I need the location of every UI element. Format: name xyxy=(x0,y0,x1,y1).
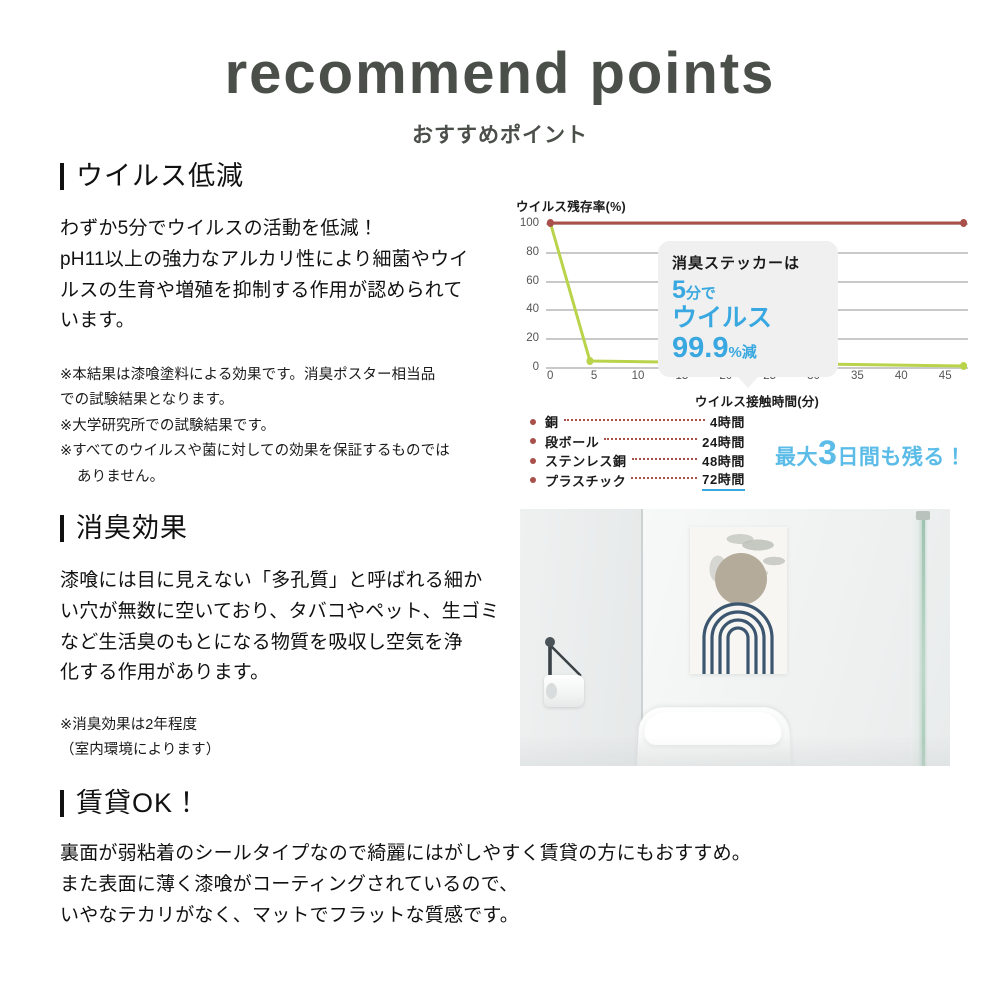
chart-y-axis-label: ウイルス残存率(%) xyxy=(516,196,972,215)
legend-item: プラスチック 72時間 xyxy=(530,471,745,491)
section-notes-deodorizing: ※消臭効果は2年程度 （室内環境によります） xyxy=(60,713,515,764)
chart-x-tick: 0 xyxy=(547,370,553,382)
body-line: わずか5分でウイルスの活動を低減！ xyxy=(60,214,510,245)
body-line: 裏面が弱粘着のシールタイプなので綺麗にはがしやすく賃貸の方にもおすすめ。 xyxy=(60,839,940,870)
legend-item: ステンレス銅 48時間 xyxy=(530,451,745,471)
chart-y-tick: 0 xyxy=(533,361,539,373)
page-subtitle: おすすめポイント xyxy=(0,119,1000,149)
chart-y-tick: 40 xyxy=(526,303,539,315)
section-virus-reduction: ウイルス低減 わずか5分でウイルスの活動を低減！ pH11以上の強力なアルカリ性… xyxy=(60,163,510,490)
legend-leader-dots xyxy=(631,477,697,479)
note-line: ※大学研究所での試験結果です。 xyxy=(60,414,510,439)
chart-x-tick: 35 xyxy=(851,370,864,382)
heading-accent-bar-icon xyxy=(60,163,64,190)
chart-datapoint xyxy=(547,219,554,227)
callout-reduction-number: 99.9 xyxy=(672,332,728,364)
bathroom-photo-scene xyxy=(520,509,950,766)
section-rental-ok: 賃貸OK！ 裏面が弱粘着のシールタイプなので綺麗にはがしやすく賃貸の方にもおすす… xyxy=(60,790,940,931)
section-title: 賃貸OK！ xyxy=(76,790,201,817)
bathroom-photo xyxy=(520,509,950,766)
legend-value: 4時間 xyxy=(710,412,745,431)
chart-y-tick: 60 xyxy=(526,275,539,287)
legend-list: 銅 4時間 段ボール 24時間 ステンレス銅 48時間 プラスチック 72時間 xyxy=(530,412,745,490)
note-line: ※消臭効果は2年程度 xyxy=(60,713,515,738)
chart-x-tick: 10 xyxy=(632,370,645,382)
body-line: また表面に薄く漆喰がコーティングされているので、 xyxy=(60,870,940,901)
callout-reduction-tail: 減 xyxy=(742,344,757,361)
chart-y-tick: 80 xyxy=(526,246,539,258)
callout-line-3: ウイルス99.9%減 xyxy=(672,304,824,364)
floor-shadow xyxy=(520,736,950,766)
note-line: （室内環境によります） xyxy=(60,738,515,763)
legend-bullet-icon xyxy=(530,458,536,464)
callout-minutes-tail: で xyxy=(701,285,716,302)
chart-y-tick: 20 xyxy=(526,332,539,344)
body-line: ルスの生育や増殖を抑制する作用が認められて xyxy=(60,276,510,307)
legend-callout-prefix: 最大 xyxy=(775,446,818,469)
chart-datapoint xyxy=(586,357,593,365)
virus-survival-chart: ウイルス残存率(%) 100 80 60 40 20 0 xyxy=(516,196,972,410)
chart-x-tick: 45 xyxy=(939,370,952,382)
legend-value: 48時間 xyxy=(702,451,745,470)
legend-leader-dots xyxy=(564,419,705,421)
glass-partition-edge xyxy=(922,515,925,766)
legend-label: プラスチック xyxy=(545,471,626,490)
poster-arch-shape xyxy=(690,592,787,674)
legend-label: ステンレス銅 xyxy=(545,451,627,470)
body-line: など生活臭のもとになる物質を吸収し空気を浄 xyxy=(60,628,515,659)
callout-line-1: 消臭ステッカーは xyxy=(672,252,824,273)
legend-value-highlighted: 72時間 xyxy=(702,469,745,491)
legend-leader-dots xyxy=(632,458,698,460)
body-line: います。 xyxy=(60,306,510,337)
legend-bullet-icon xyxy=(530,419,536,425)
section-heading-virus-reduction: ウイルス低減 xyxy=(60,163,510,190)
chart-legend: 銅 4時間 段ボール 24時間 ステンレス銅 48時間 プラスチック 72時間 … xyxy=(530,412,970,490)
page-header: recommend points おすすめポイント xyxy=(0,0,1000,149)
legend-callout: 最大3日間も残る！ xyxy=(775,434,966,473)
section-heading-deodorizing: 消臭効果 xyxy=(60,515,515,542)
body-line: 漆喰には目に見えない「多孔質」と呼ばれる細か xyxy=(60,566,515,597)
section-notes-virus-reduction: ※本結果は漆喰塗料による効果です。消臭ポスター相当品 での試験結果となります。 … xyxy=(60,363,510,490)
callout-percent-sign: % xyxy=(728,344,741,361)
chart-plot-area: 100 80 60 40 20 0 xyxy=(546,223,968,367)
chart-x-tick: 5 xyxy=(591,370,597,382)
note-line: ありません。 xyxy=(60,465,510,490)
legend-label: 段ボール xyxy=(545,432,599,451)
toilet-paper-holder xyxy=(540,635,590,707)
body-line: 化する作用があります。 xyxy=(60,658,515,689)
heading-accent-bar-icon xyxy=(60,790,64,817)
heading-accent-bar-icon xyxy=(60,515,64,542)
legend-bullet-icon xyxy=(530,477,536,483)
section-body-virus-reduction: わずか5分でウイルスの活動を低減！ pH11以上の強力なアルカリ性により細菌やウ… xyxy=(60,214,510,337)
section-title: 消臭効果 xyxy=(76,515,188,542)
chart-x-axis-label: ウイルス接触時間(分) xyxy=(516,391,972,410)
toilet-paper-core xyxy=(546,683,557,699)
body-line: いやなテカリがなく、マットでフラットな質感です。 xyxy=(60,901,940,932)
callout-minutes-number: 5 xyxy=(672,276,686,304)
section-body-deodorizing: 漆喰には目に見えない「多孔質」と呼ばれる細か い穴が無数に空いており、タバコやペ… xyxy=(60,566,515,689)
legend-leader-dots xyxy=(604,438,697,440)
section-heading-rental-ok: 賃貸OK！ xyxy=(60,790,940,817)
callout-minutes-unit: 分 xyxy=(686,285,701,302)
page-title: recommend points xyxy=(0,44,1000,105)
chart-y-tick: 100 xyxy=(520,217,539,229)
legend-bullet-icon xyxy=(530,438,536,444)
legend-item: 銅 4時間 xyxy=(530,412,745,432)
legend-item: 段ボール 24時間 xyxy=(530,432,745,452)
note-line: ※すべてのウイルスや菌に対しての効果を保証するものでは xyxy=(60,439,510,464)
chart-x-tick: 40 xyxy=(895,370,908,382)
legend-callout-suffix: 日間も残る！ xyxy=(837,446,966,469)
callout-line-2: 5分で xyxy=(672,276,824,304)
section-title: ウイルス低減 xyxy=(76,163,244,190)
section-body-rental-ok: 裏面が弱粘着のシールタイプなので綺麗にはがしやすく賃貸の方にもおすすめ。 また表… xyxy=(60,839,940,931)
chart-annotation-callout: 消臭ステッカーは 5分で ウイルス99.9%減 xyxy=(658,241,838,377)
legend-label: 銅 xyxy=(545,412,559,431)
chart-datapoint xyxy=(960,219,967,227)
section-deodorizing: 消臭効果 漆喰には目に見えない「多孔質」と呼ばれる細か い穴が無数に空いており、… xyxy=(60,515,515,764)
note-line: ※本結果は漆喰塗料による効果です。消臭ポスター相当品 xyxy=(60,363,510,388)
legend-callout-number: 3 xyxy=(818,434,837,472)
glass-bracket xyxy=(916,511,930,520)
body-line: pH11以上の強力なアルカリ性により細菌やウイ xyxy=(60,245,510,276)
note-line: での試験結果となります。 xyxy=(60,388,510,413)
legend-value: 24時間 xyxy=(702,432,745,451)
callout-virus-word: ウイルス xyxy=(672,304,772,332)
glass-partition xyxy=(910,515,928,766)
wall-poster xyxy=(690,527,787,674)
body-line: い穴が無数に空いており、タバコやペット、生ゴミ xyxy=(60,597,515,628)
